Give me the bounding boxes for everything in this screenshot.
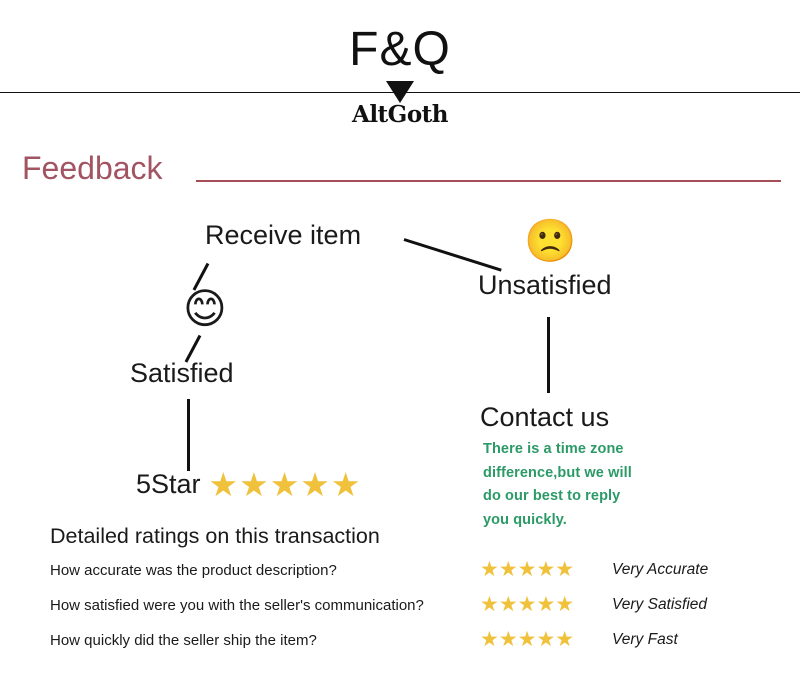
brand-logo: AltGoth bbox=[0, 103, 800, 126]
rating-result-row: ★★★★★ Very Satisfied bbox=[480, 593, 708, 616]
rating-result-label: Very Accurate bbox=[612, 561, 708, 579]
detailed-ratings-result-list: ★★★★★ Very Accurate ★★★★★ Very Satisfied… bbox=[480, 558, 708, 663]
contact-note: There is a time zone difference,but we w… bbox=[483, 438, 733, 533]
rating-question: How accurate was the product description… bbox=[50, 563, 450, 578]
connector-unsatisfied-to-contact bbox=[547, 317, 550, 393]
rating-result-label: Very Satisfied bbox=[612, 596, 707, 614]
connector-receive-to-unsatisfied bbox=[404, 238, 502, 272]
flow-node-receive-item: Receive item bbox=[205, 222, 361, 249]
header-divider bbox=[0, 92, 800, 93]
frowning-face-with-hand-icon: 🙁 bbox=[524, 220, 576, 262]
connector-satisfied-to-fivestar bbox=[187, 399, 190, 471]
rating-stars: ★★★★★ bbox=[480, 629, 606, 650]
rating-result-row: ★★★★★ Very Fast bbox=[480, 628, 708, 651]
rating-question: How satisfied were you with the seller's… bbox=[50, 598, 450, 613]
rating-result-label: Very Fast bbox=[612, 631, 678, 649]
detailed-ratings-question-list: How accurate was the product description… bbox=[50, 563, 450, 668]
rating-stars: ★★★★★ bbox=[480, 559, 606, 580]
smiling-face-with-smiling-eyes-icon: 😊 bbox=[183, 288, 227, 330]
flow-node-unsatisfied: Unsatisfied bbox=[478, 272, 612, 299]
feedback-section-title: Feedback bbox=[22, 152, 163, 186]
contact-note-line: There is a time zone bbox=[483, 438, 733, 462]
page-title: F&Q bbox=[0, 26, 800, 74]
fivestar-row: 5Star ★★★★★ bbox=[136, 468, 361, 501]
feedback-divider bbox=[196, 180, 781, 182]
rating-question: How quickly did the seller ship the item… bbox=[50, 633, 450, 648]
contact-note-line: do our best to reply bbox=[483, 485, 733, 509]
fivestar-label: 5Star bbox=[136, 471, 201, 498]
flow-node-satisfied: Satisfied bbox=[130, 360, 234, 387]
contact-note-line: difference,but we will bbox=[483, 462, 733, 486]
rating-result-row: ★★★★★ Very Accurate bbox=[480, 558, 708, 581]
rating-stars: ★★★★★ bbox=[480, 594, 606, 615]
detailed-ratings-heading: Detailed ratings on this transaction bbox=[50, 526, 380, 548]
fivestar-rating-stars: ★★★★★ bbox=[209, 468, 362, 501]
contact-note-line: you quickly. bbox=[483, 509, 733, 533]
contact-us-heading: Contact us bbox=[480, 404, 609, 431]
